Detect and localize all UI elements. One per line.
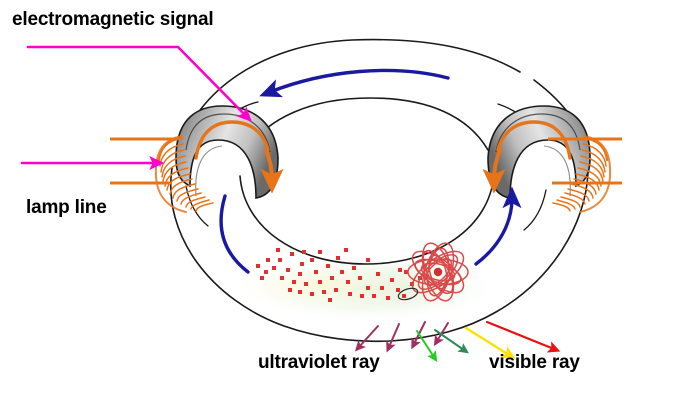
uv-ray-2 bbox=[389, 324, 399, 347]
diagram-canvas: electromagnetic signal lamp line ultravi… bbox=[0, 0, 680, 420]
label-visible-ray: visible ray bbox=[489, 352, 580, 374]
annotation-leaders bbox=[22, 47, 246, 163]
visible-ray-red bbox=[487, 322, 554, 349]
uv-ray-6 bbox=[435, 330, 464, 350]
blue-arc-top bbox=[270, 70, 448, 92]
current-arrows bbox=[266, 150, 500, 180]
label-electromagnetic-signal: electromagnetic signal bbox=[12, 9, 214, 31]
uv-ray-1 bbox=[359, 326, 378, 347]
visible-ray-yellow bbox=[466, 328, 509, 355]
label-ultraviolet-ray: ultraviolet ray bbox=[258, 352, 380, 374]
blue-arc-lower-left bbox=[221, 196, 248, 272]
blue-arc-lower-right bbox=[476, 198, 512, 264]
label-lamp-line: lamp line bbox=[26, 197, 107, 219]
electromagnetic-signal-pointer bbox=[28, 47, 246, 116]
uv-ray-4 bbox=[417, 331, 434, 357]
